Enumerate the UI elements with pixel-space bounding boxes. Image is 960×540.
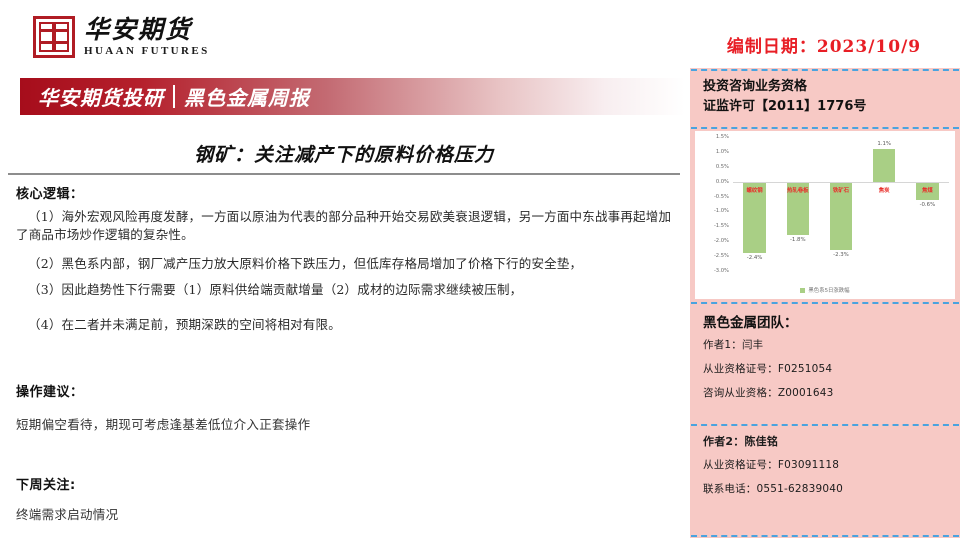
qualification-line-2: 证监许可【2011】1776号 — [703, 97, 866, 117]
banner-right-label: 黑色金属周报 — [184, 82, 310, 111]
qualification-block: 投资咨询业务资格 证监许可【2011】1776号 — [703, 77, 866, 116]
chart-ytick-label: 0.0% — [697, 179, 729, 185]
compile-date: 编制日期：2023/10/9 — [688, 32, 960, 57]
seal-square-icon — [33, 16, 75, 58]
next-week-heading: 下周关注: — [16, 474, 76, 493]
core-logic-heading: 核心逻辑： — [16, 183, 84, 202]
brand-name-en: HUAAN FUTURES — [84, 45, 210, 57]
operation-advice-body: 短期偏空看待，期现可考虑逢基差低位介入正套操作 — [16, 414, 616, 433]
title-divider — [8, 173, 680, 175]
sidebar: 编制日期：2023/10/9 投资咨询业务资格 证监许可【2011】1776号 … — [688, 0, 960, 540]
chart-bar-category-label: 焦煤 — [906, 186, 949, 194]
chart-ytick-label: -2.5% — [697, 253, 729, 259]
core-logic-paragraph-2: （2）黑色系内部，钢厂减产压力放大原料价格下跌压力，但低库存格局增加了价格下行的… — [16, 255, 680, 273]
brand-logo: 华安期货 HUAAN FUTURES — [33, 16, 210, 58]
banner-left-label: 华安期货投研 — [38, 82, 164, 111]
next-week-body: 终端需求启动情况 — [16, 504, 616, 523]
legend-label: 黑色系5日涨跌幅 — [808, 286, 849, 294]
ferrous-5day-change-chart: 螺纹钢-2.4%热轧卷板-1.8%铁矿石-2.3%焦炭1.1%焦煤-0.6% 黑… — [695, 131, 955, 299]
banner-separator — [173, 85, 175, 108]
chart-ytick-label: 0.5% — [697, 164, 729, 170]
chart-bar-value-label: 1.1% — [863, 141, 906, 147]
brand-name-cn: 华安期货 — [84, 17, 210, 43]
chart-plot-area: 螺纹钢-2.4%热轧卷板-1.8%铁矿石-2.3%焦炭1.1%焦煤-0.6% — [733, 137, 949, 271]
chart-bar-category-label: 热轧卷板 — [776, 186, 819, 194]
chart-legend: 黑色系5日涨跌幅 — [695, 286, 955, 294]
core-logic-paragraph-3: （3）因此趋势性下行需要（1）原料供给端贡献增量（2）成材的边际需求继续被压制， — [16, 281, 680, 299]
panel-divider-2 — [691, 302, 959, 304]
chart-zero-axis — [733, 182, 949, 183]
chart-ytick-label: -0.5% — [697, 194, 729, 200]
chart-bar-value-label: -2.3% — [819, 252, 862, 258]
panel-divider-top — [691, 69, 959, 71]
chart-ytick-label: -3.0% — [697, 268, 729, 274]
chart-bar-category-label: 螺纹钢 — [733, 186, 776, 194]
chart-ytick-label: -1.5% — [697, 223, 729, 229]
chart-bar-value-label: -0.6% — [906, 202, 949, 208]
report-page: 华安期货 HUAAN FUTURES 华安期货投研 黑色金属周报 钢矿：关注减产… — [0, 0, 960, 540]
panel-divider-3 — [691, 424, 959, 426]
legend-swatch-icon — [800, 288, 805, 293]
author2-cert: 从业资格证号：F03091118 — [703, 457, 839, 472]
chart-ytick-label: -1.0% — [697, 208, 729, 214]
sidebar-panel: 投资咨询业务资格 证监许可【2011】1776号 螺纹钢-2.4%热轧卷板-1.… — [690, 68, 960, 538]
panel-divider-1 — [691, 127, 959, 129]
chart-bar — [873, 149, 895, 182]
page-title: 钢矿：关注减产下的原料价格压力 — [0, 140, 688, 167]
brand-text: 华安期货 HUAAN FUTURES — [84, 17, 210, 57]
author1-advisory: 咨询从业资格：Z0001643 — [703, 385, 833, 400]
team-heading: 黑色金属团队： — [703, 311, 798, 331]
qualification-line-1: 投资咨询业务资格 — [703, 77, 866, 97]
chart-bar-category-label: 焦炭 — [863, 186, 906, 194]
author2-name: 作者2：陈佳铭 — [703, 433, 778, 449]
core-logic-paragraph-1: （1）海外宏观风险再度发酵，一方面以原油为代表的部分品种开始交易欧美衰退逻辑，另… — [16, 208, 680, 244]
chart-ytick-label: 1.5% — [697, 134, 729, 140]
chart-ytick-label: 1.0% — [697, 149, 729, 155]
chart-bar-category-label: 铁矿石 — [819, 186, 862, 194]
author1-cert: 从业资格证号：F0251054 — [703, 361, 832, 376]
operation-advice-heading: 操作建议： — [16, 381, 84, 400]
chart-ytick-label: -2.0% — [697, 238, 729, 244]
main-content: 华安期货 HUAAN FUTURES 华安期货投研 黑色金属周报 钢矿：关注减产… — [0, 0, 688, 540]
author1-name: 作者1：闫丰 — [703, 337, 763, 352]
panel-divider-bottom — [691, 535, 959, 537]
report-banner: 华安期货投研 黑色金属周报 — [20, 78, 685, 115]
chart-bar-value-label: -1.8% — [776, 237, 819, 243]
author2-phone: 联系电话：0551-62839040 — [703, 481, 843, 496]
chart-bar-value-label: -2.4% — [733, 255, 776, 261]
core-logic-paragraph-4: （4）在二者并未满足前，预期深跌的空间将相对有限。 — [16, 316, 680, 334]
